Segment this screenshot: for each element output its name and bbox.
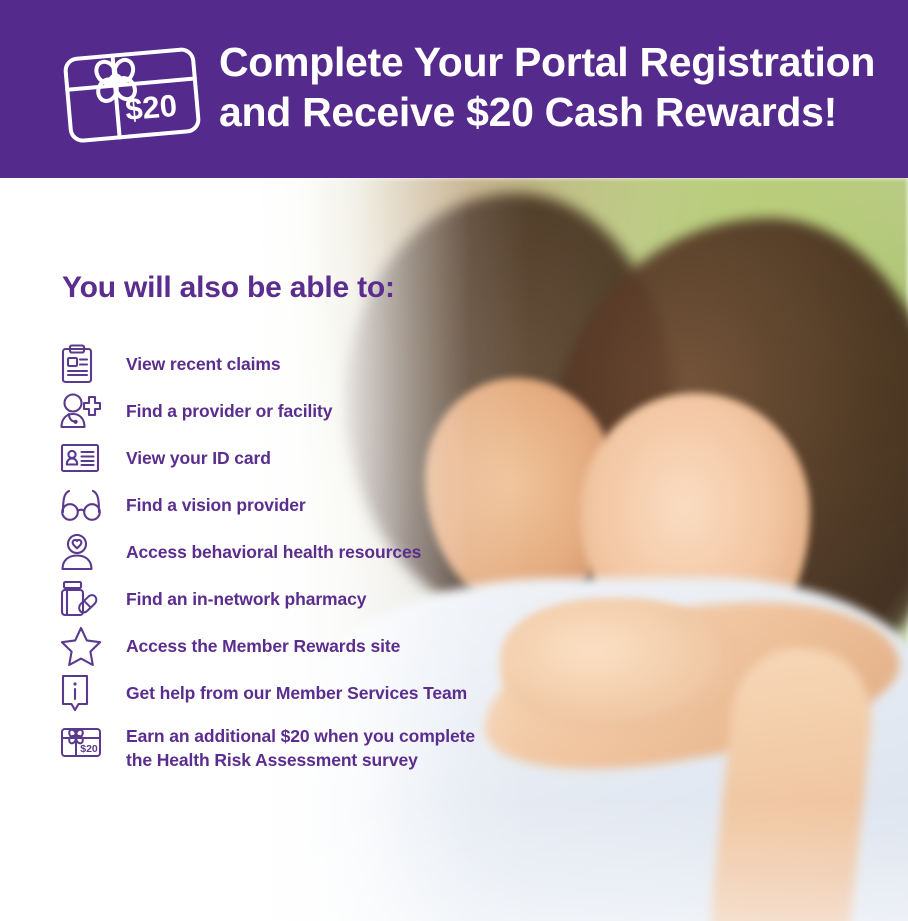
section-heading: You will also be able to: xyxy=(62,271,395,305)
star-icon xyxy=(60,624,108,668)
eyeglasses-icon xyxy=(60,483,108,527)
info-bubble-icon xyxy=(60,671,108,715)
list-item-label: Get help from our Member Services Team xyxy=(108,681,467,705)
promotional-flyer: $20 Complete Your Portal Registration an… xyxy=(0,0,908,921)
list-item-label: Access the Member Rewards site xyxy=(108,634,400,658)
list-item-label: Find a vision provider xyxy=(108,493,306,517)
list-item-label: Earn an additional $20 when you complete… xyxy=(108,722,475,772)
list-item[interactable]: Access the Member Rewards site xyxy=(60,622,580,669)
list-item-label: View recent claims xyxy=(108,352,281,376)
list-item[interactable]: Access behavioral health resources xyxy=(60,528,580,575)
page-title: Complete Your Portal Registration and Re… xyxy=(219,37,879,137)
page-title-line-1: Complete Your Portal Registration xyxy=(219,37,879,87)
page-title-line-2: and Receive $20 Cash Rewards! xyxy=(219,87,879,137)
list-item[interactable]: View your ID card xyxy=(60,434,580,481)
list-item[interactable]: View recent claims xyxy=(60,340,580,387)
gift-card-icon: $20 xyxy=(58,42,208,148)
clipboard-claims-icon xyxy=(60,342,108,386)
gift-card-amount-small: $20 xyxy=(80,743,98,755)
list-item[interactable]: Get help from our Member Services Team xyxy=(60,669,580,716)
list-item-label: Access behavioral health resources xyxy=(108,540,421,564)
gift-card-amount: $20 xyxy=(124,88,179,127)
id-card-icon xyxy=(60,436,108,480)
list-item[interactable]: Find an in-network pharmacy xyxy=(60,575,580,622)
content-area: You will also be able to: xyxy=(0,178,908,921)
provider-person-plus-icon xyxy=(60,389,108,433)
list-item[interactable]: $20 Earn an additional $20 when you comp… xyxy=(60,716,580,794)
list-item-label: View your ID card xyxy=(108,446,271,470)
gift-card-small-icon: $20 xyxy=(60,722,108,770)
benefits-list: View recent claims Find a pro xyxy=(60,340,580,794)
pill-bottle-icon xyxy=(60,577,108,621)
person-heart-icon xyxy=(60,530,108,574)
list-item[interactable]: Find a vision provider xyxy=(60,481,580,528)
list-item[interactable]: Find a provider or facility xyxy=(60,387,580,434)
list-item-label: Find an in-network pharmacy xyxy=(108,587,366,611)
header-banner: $20 Complete Your Portal Registration an… xyxy=(0,0,908,178)
list-item-label: Find a provider or facility xyxy=(108,399,332,423)
